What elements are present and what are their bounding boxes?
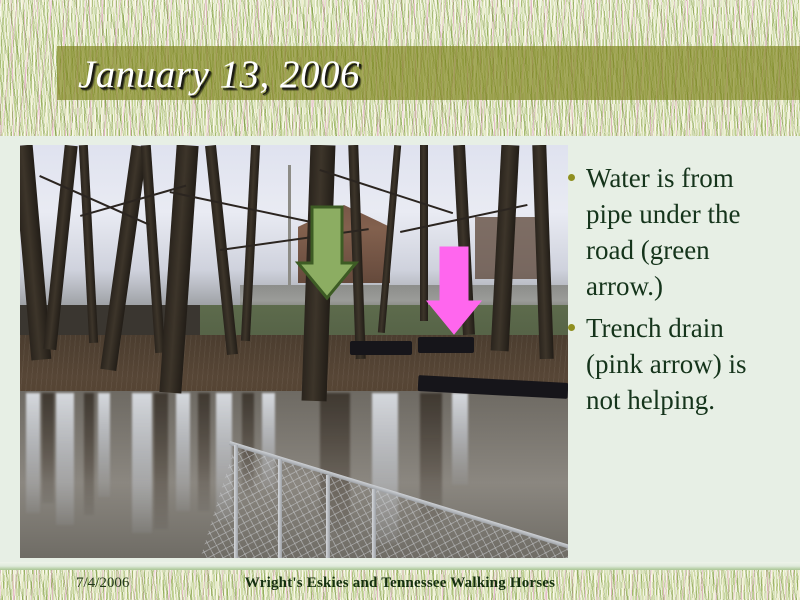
bullet-text: Trench drain (pink arrow) is not helping… [586,310,782,418]
photo-water-shadow [42,393,54,503]
photo-water-reflection [56,393,74,525]
photo-utility-pole [288,165,291,295]
photo-silt-fence [418,337,474,353]
photo-fence-post [372,489,376,558]
slide: January 13, 2006 [0,0,800,600]
bullet-dot-icon [568,174,575,181]
photo-fence-post [278,459,282,558]
photo-water-reflection [26,393,40,513]
pink-arrow-icon [424,245,484,337]
bullet-list: Water is from pipe under the road (green… [568,160,800,560]
photo-water-reflection [132,393,152,533]
photo-silt-fence [350,341,412,355]
photo-fence-post [234,445,238,558]
photo-fence-post [326,475,330,558]
list-item: Trench drain (pink arrow) is not helping… [568,310,800,418]
photo-water-shadow [198,393,210,511]
photo-water-reflection [98,393,110,497]
photo-water-reflection [452,393,468,485]
page-title: January 13, 2006 [78,52,778,98]
slide-photo [20,145,568,558]
footer-title: Wright's Eskies and Tennessee Walking Ho… [0,575,800,592]
green-arrow-icon [294,205,360,301]
bullet-dot-icon [568,324,575,331]
photo-water-shadow [154,393,168,529]
bullet-text: Water is from pipe under the road (green… [586,160,782,304]
list-item: Water is from pipe under the road (green… [568,160,800,304]
photo-water-shadow [84,393,94,515]
photo-water-reflection [176,393,190,511]
